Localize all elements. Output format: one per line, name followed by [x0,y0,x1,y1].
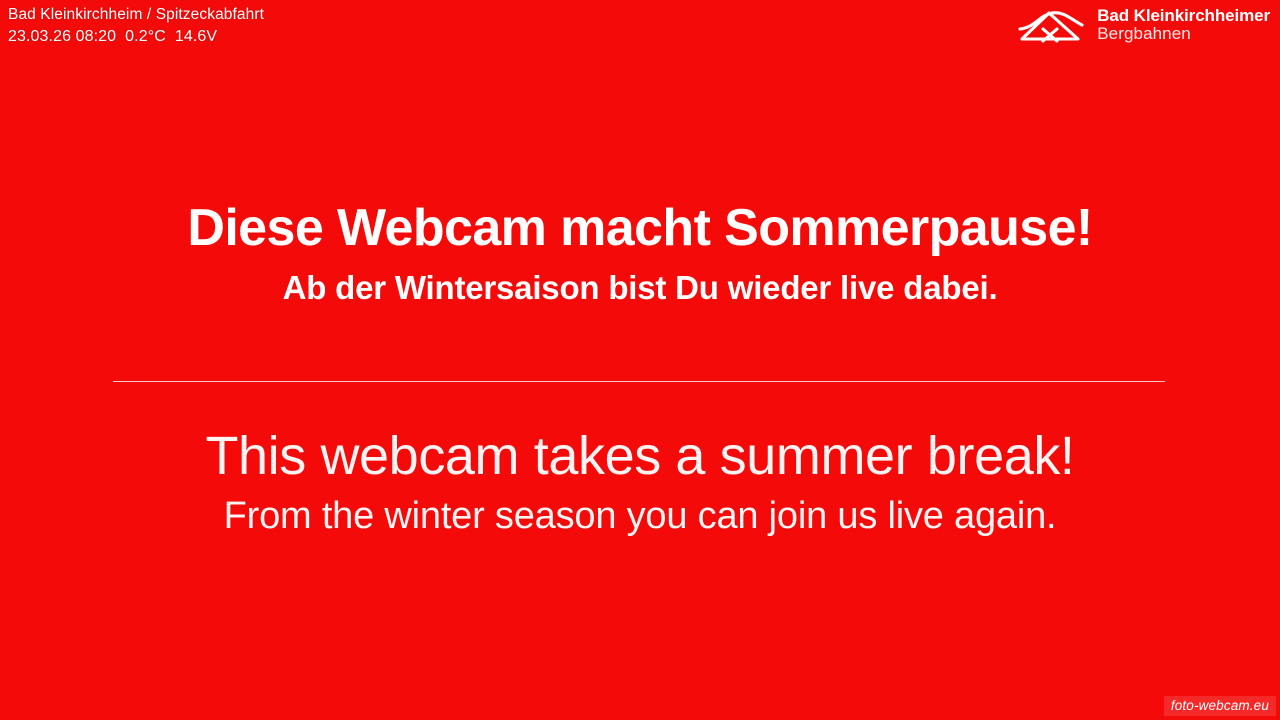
divider [113,381,1165,382]
temperature-text: 0.2°C [125,28,166,45]
message-block-english: This webcam takes a summer break! From t… [0,427,1280,538]
brand-name-primary: Bad Kleinkirchheimer [1097,7,1270,25]
watermark-foto-webcam[interactable]: foto-webcam.eu [1164,696,1276,717]
subline-english: From the winter season you can join us l… [0,496,1280,538]
camera-location-title: Bad Kleinkirchheim / Spitzeckabfahrt [8,5,264,25]
brand-name-secondary: Bergbahnen [1097,25,1270,43]
camera-info-block: Bad Kleinkirchheim / Spitzeckabfahrt 23.… [8,5,264,48]
overlay-header: Bad Kleinkirchheim / Spitzeckabfahrt 23.… [0,0,1280,54]
headline-german: Diese Webcam macht Sommerpause! [0,200,1280,256]
mountain-cablecar-icon [1014,6,1086,44]
brand-wordmark: Bad Kleinkirchheimer Bergbahnen [1097,7,1270,43]
voltage-text: 14.6V [175,28,217,45]
timestamp-text: 23.03.26 08:20 [8,28,116,45]
subline-german: Ab der Wintersaison bist Du wieder live … [0,270,1280,306]
brand-logo[interactable]: Bad Kleinkirchheimer Bergbahnen [1014,6,1270,44]
headline-english: This webcam takes a summer break! [0,427,1280,486]
camera-readout-line: 23.03.26 08:200.2°C14.6V [8,26,264,47]
webcam-offline-screen: Bad Kleinkirchheim / Spitzeckabfahrt 23.… [0,0,1280,720]
message-block-german: Diese Webcam macht Sommerpause! Ab der W… [0,200,1280,306]
